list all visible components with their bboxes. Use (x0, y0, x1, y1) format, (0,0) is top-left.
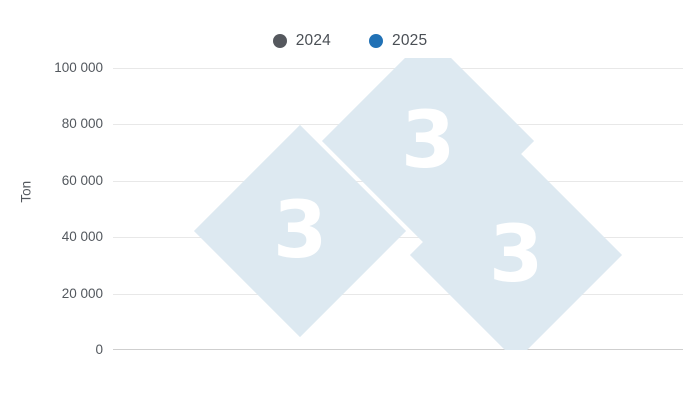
legend-item-2025[interactable]: 2025 (369, 33, 427, 49)
legend-label-2024: 2024 (296, 33, 331, 49)
chart-legend: 2024 2025 (0, 28, 700, 54)
y-axis-tick-label: 40 000 (0, 230, 103, 244)
circle-marker-icon (369, 34, 383, 48)
y-axis-tick-label: 60 000 (0, 174, 103, 188)
y-axis-title: Ton (19, 162, 33, 222)
circle-marker-icon (273, 34, 287, 48)
legend-item-2024[interactable]: 2024 (273, 33, 331, 49)
legend-label-2025: 2025 (392, 33, 427, 49)
bars-layer (113, 68, 683, 350)
y-axis-tick-label: 20 000 (0, 287, 103, 301)
x-axis-categories (0, 352, 700, 400)
y-axis-tick-label: 100 000 (0, 61, 103, 75)
y-axis-tick-label: 80 000 (0, 117, 103, 131)
bar-chart: 2024 2025 Ton 020 00040 00060 00080 0001… (0, 0, 700, 400)
